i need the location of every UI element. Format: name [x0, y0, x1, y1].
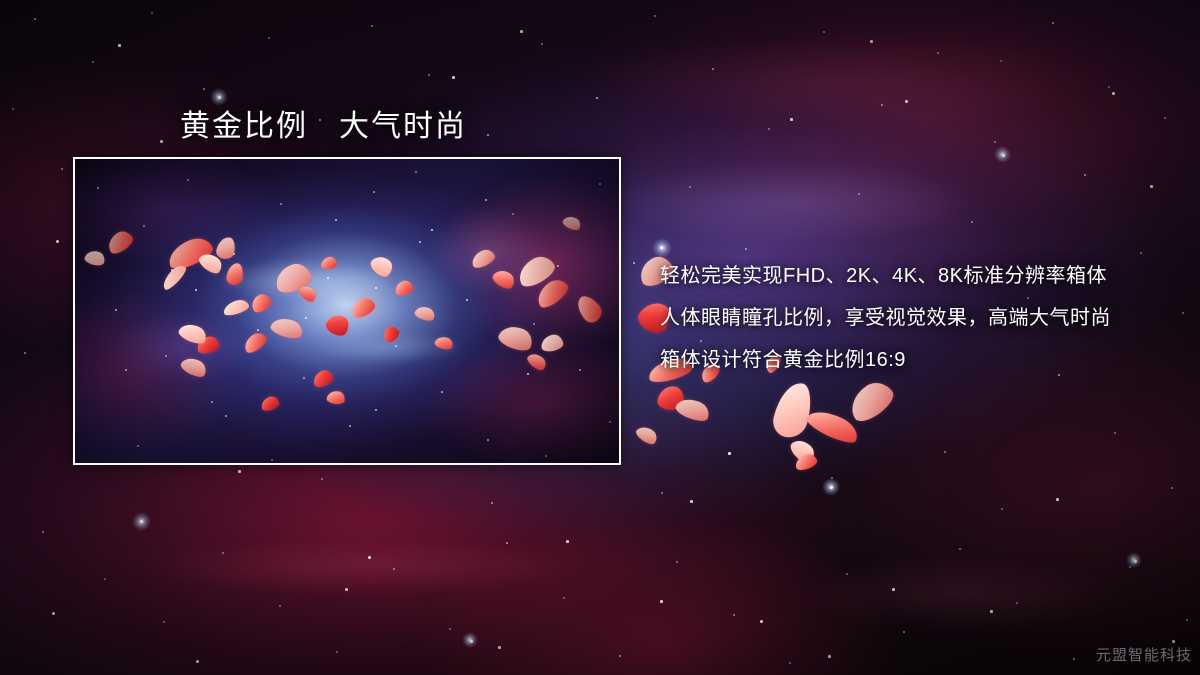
watermark: 元盟智能科技 [1096, 644, 1192, 665]
panel-vignette [75, 159, 619, 463]
body-line: 箱体设计符合黄金比例16:9 [660, 339, 1160, 381]
page-title: 黄金比例 大气时尚 [180, 101, 467, 145]
body-text-block: 轻松完美实现FHD、2K、4K、8K标准分辨率箱体 人体眼睛瞳孔比例，享受视觉效… [660, 255, 1160, 381]
body-line: 轻松完美实现FHD、2K、4K、8K标准分辨率箱体 [660, 255, 1160, 297]
panel-image [75, 159, 619, 463]
body-line: 人体眼睛瞳孔比例，享受视觉效果，高端大气时尚 [660, 297, 1160, 339]
presentation-slide: 黄金比例 大气时尚 轻松完美实现FHD、2K、4K、8K标准分辨率箱体 人体眼睛… [0, 0, 1200, 675]
image-panel-frame [73, 157, 621, 465]
